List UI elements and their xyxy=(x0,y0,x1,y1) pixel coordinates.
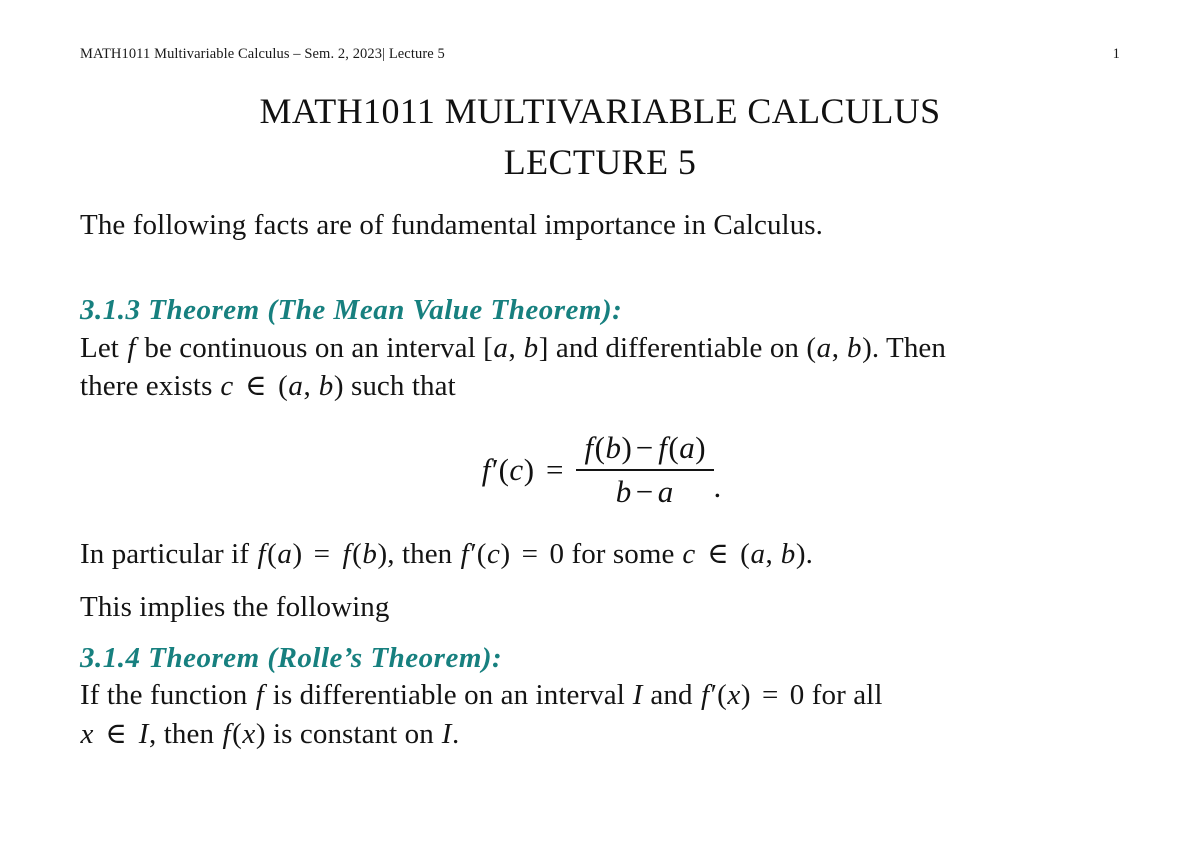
mvt-line-2: there exists c ∈ (a, b) such that xyxy=(80,367,1122,405)
paren-open-num-2: ( xyxy=(668,430,678,465)
math-element-of-icon-rolle: ∈ xyxy=(101,718,131,750)
math-f-rolle-2: f xyxy=(700,679,711,711)
rolle-paren-4: ) xyxy=(256,718,266,750)
math-paren-open: ( xyxy=(278,370,288,402)
math-a-2: a xyxy=(816,332,832,364)
rolle-paren-2: ) xyxy=(741,679,751,711)
equation-lhs: f′(c) xyxy=(481,452,546,488)
page-title: MATH1011 MULTIVARIABLE CALCULUS xyxy=(0,92,1200,130)
math-x-rolle-3: x xyxy=(242,718,256,750)
math-a-3: a xyxy=(288,370,304,402)
math-c: c xyxy=(220,370,234,402)
math-c-cor-2: c xyxy=(682,538,696,570)
math-minus-num: − xyxy=(632,430,657,465)
math-f-cor-1: f xyxy=(256,538,267,570)
math-paren-open-lhs: ( xyxy=(499,452,509,487)
math-equals-rolle: = xyxy=(758,679,782,711)
running-header: MATH1011 Multivariable Calculus – Sem. 2… xyxy=(80,46,1120,66)
mvt-text-c: ] and differentiable on ( xyxy=(539,332,816,364)
math-b-3: b xyxy=(318,370,334,402)
math-f: f xyxy=(126,332,137,364)
theorem-heading-mvt: 3.1.3 Theorem (The Mean Value Theorem): xyxy=(80,292,1122,328)
document-page: MATH1011 Multivariable Calculus – Sem. 2… xyxy=(0,0,1200,849)
equation-row: f′(c) = f(b)−f(a) b−a . xyxy=(481,431,722,509)
mvt-text-e: there exists xyxy=(80,370,212,402)
cor-paren-3: ( xyxy=(352,538,362,570)
math-b-cor-1: b xyxy=(362,538,378,570)
math-zero-cor: 0 xyxy=(549,538,564,570)
page-number: 1 xyxy=(1113,46,1120,63)
cor-comma: , xyxy=(766,538,773,570)
mvt-text-b: be continuous on an interval [ xyxy=(144,332,493,364)
spacer xyxy=(80,405,1122,431)
document-body: The following facts are of fundamental i… xyxy=(80,206,1122,753)
cor-paren-2: ) xyxy=(292,538,302,570)
fraction: f(b)−f(a) b−a xyxy=(576,431,714,509)
math-f-rolle-1: f xyxy=(255,679,266,711)
cor-paren-4: ) xyxy=(377,538,387,570)
math-a-den: a xyxy=(657,474,674,509)
math-paren-close-lhs: ) xyxy=(524,452,534,487)
header-course-label: MATH1011 Multivariable Calculus – Sem. 2… xyxy=(80,46,445,63)
math-c-lhs: c xyxy=(509,452,524,487)
page-subtitle: LECTURE 5 xyxy=(0,143,1200,181)
math-x-rolle-1: x xyxy=(727,679,741,711)
mvt-line-1: Let f be continuous on an interval [a, b… xyxy=(80,329,1122,367)
math-a-cor-1: a xyxy=(277,538,293,570)
math-element-of-icon: ∈ xyxy=(241,370,271,402)
mvt-comma-1: , xyxy=(508,332,515,364)
math-f-cor-2: f xyxy=(341,538,352,570)
math-b: b xyxy=(523,332,539,364)
math-c-cor-1: c xyxy=(487,538,501,570)
spacer xyxy=(80,244,1122,292)
math-b-num: b xyxy=(605,430,622,465)
math-b-2: b xyxy=(846,332,862,364)
math-equals-cor-1: = xyxy=(310,538,334,570)
math-zero-rolle: 0 xyxy=(790,679,805,711)
math-I-rolle-2: I xyxy=(138,718,149,750)
rolle-text-5: , then xyxy=(149,718,214,750)
fraction-numerator: f(b)−f(a) xyxy=(576,431,714,469)
cor-text-2: , then xyxy=(387,538,452,570)
rolle-paren-3: ( xyxy=(232,718,242,750)
rolle-text-7: . xyxy=(452,718,459,750)
spacer xyxy=(80,509,1122,535)
cor-paren-6: ) xyxy=(501,538,511,570)
rolle-text-1: If the function xyxy=(80,679,247,711)
theorem-heading-rolle: 3.1.4 Theorem (Rolle’s Theorem): xyxy=(80,640,1122,676)
cor-text-3: for some xyxy=(571,538,674,570)
math-b-den: b xyxy=(615,474,632,509)
mvt-comma-2: , xyxy=(832,332,839,364)
intro-paragraph: The following facts are of fundamental i… xyxy=(80,206,1122,244)
math-equals-cor-2: = xyxy=(518,538,542,570)
math-f-rolle-3: f xyxy=(221,718,232,750)
math-f-num-2: f xyxy=(657,430,668,465)
mvt-text-d: ). Then xyxy=(862,332,946,364)
rolle-text-2: is differentiable on an interval xyxy=(273,679,625,711)
math-minus-den: − xyxy=(632,474,657,509)
math-I-rolle-3: I xyxy=(441,718,452,750)
math-I-rolle-1: I xyxy=(632,679,643,711)
cor-paren-7: ( xyxy=(740,538,750,570)
rolle-paren-1: ( xyxy=(717,679,727,711)
spacer xyxy=(80,574,1122,588)
math-prime-icon: ′ xyxy=(492,452,499,487)
spacer xyxy=(80,626,1122,640)
cor-text-4: . xyxy=(806,538,813,570)
paren-close-num-1: ) xyxy=(621,430,631,465)
cor-paren-1: ( xyxy=(267,538,277,570)
math-a: a xyxy=(493,332,509,364)
math-b-cor-2: b xyxy=(780,538,796,570)
cor-text-1: In particular if xyxy=(80,538,249,570)
math-equals-sign: = xyxy=(546,452,575,488)
bridge-paragraph: This implies the following xyxy=(80,588,1122,626)
math-element-of-icon-cor: ∈ xyxy=(703,538,733,570)
rolle-line-1: If the function f is differentiable on a… xyxy=(80,676,1122,714)
corollary-paragraph: In particular if f(a) = f(b), then f′(c)… xyxy=(80,535,1122,573)
paren-close-num-2: ) xyxy=(695,430,705,465)
paren-open-num-1: ( xyxy=(595,430,605,465)
math-f-lhs: f xyxy=(481,452,492,487)
mvt-text-f: such that xyxy=(351,370,456,402)
math-x-rolle-2: x xyxy=(80,718,94,750)
cor-paren-8: ) xyxy=(796,538,806,570)
math-f-cor-3: f xyxy=(460,538,471,570)
math-f-num-1: f xyxy=(584,430,595,465)
cor-paren-5: ( xyxy=(477,538,487,570)
math-paren-close: ) xyxy=(334,370,344,402)
rolle-line-2: x ∈ I, then f(x) is constant on I. xyxy=(80,715,1122,753)
rolle-text-3: and xyxy=(650,679,692,711)
display-equation: f′(c) = f(b)−f(a) b−a . xyxy=(80,431,1122,509)
rolle-text-4: for all xyxy=(812,679,883,711)
mvt-comma-3: , xyxy=(303,370,310,402)
rolle-text-6: is constant on xyxy=(273,718,434,750)
math-a-num: a xyxy=(679,430,696,465)
mvt-text-a: Let xyxy=(80,332,119,364)
math-a-cor-2: a xyxy=(750,538,766,570)
fraction-denominator: b−a xyxy=(607,471,681,510)
equation-period: . xyxy=(714,469,722,509)
